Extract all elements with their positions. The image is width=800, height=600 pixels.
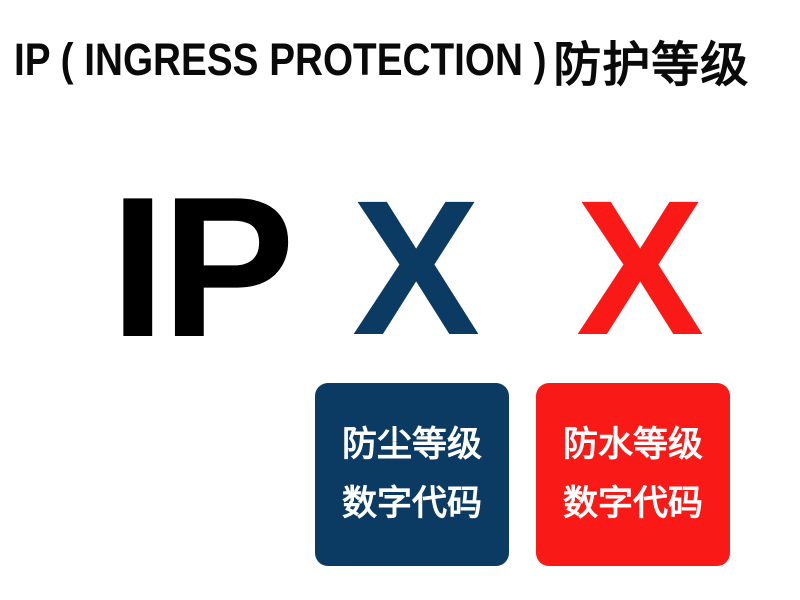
dust-rating-card-line2: 数字代码 [342, 487, 482, 522]
water-rating-card-line2: 数字代码 [563, 487, 703, 522]
water-rating-card: 防水等级 数字代码 [536, 383, 730, 566]
water-rating-card-line1: 防水等级 [563, 428, 703, 463]
dust-rating-card: 防尘等级 数字代码 [315, 383, 509, 566]
second-digit-placeholder-glyph: X [576, 172, 704, 364]
ip-prefix-glyph: IP [110, 168, 291, 368]
page-title: IP ( INGRESS PROTECTION ) 防护等级 [14, 30, 796, 90]
first-digit-placeholder-glyph: X [352, 172, 480, 364]
ip-rating-diagram: IP ( INGRESS PROTECTION ) 防护等级 IP X X 防尘… [0, 0, 800, 600]
dust-rating-card-line1: 防尘等级 [342, 428, 482, 463]
page-title-latin: IP ( INGRESS PROTECTION ) [14, 34, 547, 86]
page-title-cjk: 防护等级 [553, 25, 749, 95]
